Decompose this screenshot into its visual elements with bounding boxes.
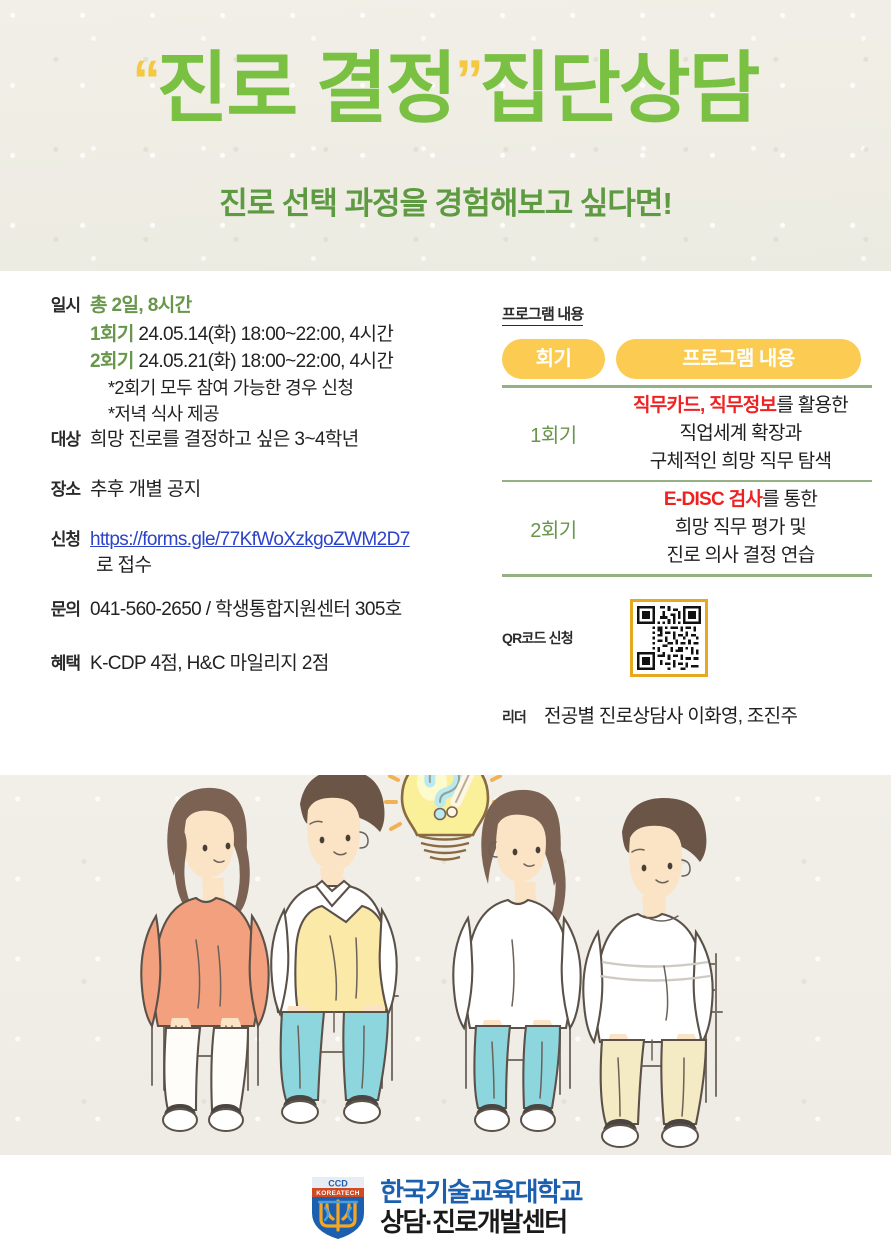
row-2-line-3: 진로 의사 결정 연습 bbox=[609, 542, 872, 570]
note-1: *2회기 모두 참여 가능한 경우 신청 bbox=[38, 375, 488, 401]
svg-text:CCD: CCD bbox=[328, 1178, 348, 1188]
qr-code[interactable] bbox=[630, 599, 708, 677]
person-3 bbox=[453, 790, 580, 1131]
details-column: 일시 총 2일, 8시간 1회기 24.05.14(화) 18:00~22:00… bbox=[38, 293, 488, 679]
detail-row-apply: 신청 https://forms.gle/77KfWoXzkgoZWM2D7 로… bbox=[38, 527, 488, 579]
person-1 bbox=[141, 788, 268, 1131]
benefit-label: 혜택 bbox=[38, 651, 80, 677]
row-1-line-3: 구체적인 희망 직무 탐색 bbox=[609, 448, 872, 476]
program-table-header: 회기 프로그램 내용 bbox=[502, 339, 872, 379]
seated-people-illustration: .ln { fill:none; stroke:#5b5149; stroke-… bbox=[0, 775, 891, 1155]
table-divider-bottom bbox=[502, 574, 872, 577]
target-value: 희망 진로를 결정하고 싶은 3~4학년 bbox=[80, 427, 488, 453]
detail-row-place: 장소 추후 개별 공지 bbox=[38, 477, 488, 503]
place-label: 장소 bbox=[38, 477, 80, 503]
contact-value: 041-560-2650 / 학생통합지원센터 305호 bbox=[80, 597, 488, 623]
row-1-line-1: 직무카드, 직무정보를 활용한 bbox=[609, 392, 872, 420]
table-row: 2회기 E-DISC 검사를 통한 희망 직무 평가 및 진로 의사 결정 연습 bbox=[502, 482, 872, 574]
title-part-1: 진로 결정 bbox=[157, 44, 456, 132]
person-2 bbox=[271, 775, 398, 1123]
detail-row-target: 대상 희망 진로를 결정하고 싶은 3~4학년 bbox=[38, 427, 488, 453]
apply-suffix: 로 접수 bbox=[90, 555, 151, 576]
svg-text:KOREATECH: KOREATECH bbox=[316, 1190, 360, 1197]
row-1-session: 1회기 bbox=[502, 419, 605, 448]
session-2-value: 24.05.21(화) 18:00~22:00, 4시간 bbox=[138, 351, 393, 372]
row-2-line-2: 희망 직무 평가 및 bbox=[609, 514, 872, 542]
body-area: 일시 총 2일, 8시간 1회기 24.05.14(화) 18:00~22:00… bbox=[0, 271, 891, 775]
detail-row-date: 일시 총 2일, 8시간 bbox=[38, 293, 488, 319]
footer: CCD KOREATECH 한국기술교육대학교 상담·진로개발센터 bbox=[0, 1155, 891, 1260]
qr-label: QR코드 신청 bbox=[502, 628, 630, 648]
leader-row: 리더 전공별 진로상담사 이화영, 조진주 bbox=[502, 701, 872, 728]
detail-row-contact: 문의 041-560-2650 / 학생통합지원센터 305호 bbox=[38, 597, 488, 623]
apply-label: 신청 bbox=[38, 527, 80, 553]
apply-value: https://forms.gle/77KfWoXzkgoZWM2D7 로 접수 bbox=[80, 527, 425, 579]
page-title: “진로 결정”집단상담 bbox=[0, 46, 891, 130]
qr-application-area: QR코드 신청 bbox=[502, 599, 872, 677]
person-4 bbox=[583, 798, 722, 1147]
row-2-session: 2회기 bbox=[502, 514, 605, 543]
row-2-highlight: E-DISC 검사 bbox=[664, 489, 762, 510]
page-subtitle: 진로 선택 과정을 경험해보고 싶다면! bbox=[0, 178, 891, 223]
footer-university-name: 한국기술교육대학교 bbox=[380, 1178, 582, 1207]
footer-org-text: 한국기술교육대학교 상담·진로개발센터 bbox=[380, 1178, 582, 1236]
column-header-session: 회기 bbox=[502, 339, 605, 379]
session-1-line: 1회기 24.05.14(화) 18:00~22:00, 4시간 bbox=[38, 321, 488, 348]
illustration-band: .ln { fill:none; stroke:#5b5149; stroke-… bbox=[0, 775, 891, 1155]
column-header-content: 프로그램 내용 bbox=[616, 339, 861, 379]
benefit-value: K-CDP 4점, H&C 마일리지 2점 bbox=[80, 651, 488, 677]
spacer-4 bbox=[38, 625, 488, 651]
row-2-line1-rest: 를 통한 bbox=[762, 489, 817, 510]
row-2-content: E-DISC 검사를 통한 희망 직무 평가 및 진로 의사 결정 연습 bbox=[605, 486, 872, 570]
session-1-tag: 1회기 bbox=[90, 324, 134, 345]
place-value: 추후 개별 공지 bbox=[80, 477, 488, 503]
title-part-2: 집단상담 bbox=[479, 44, 758, 132]
quote-close-mark: ” bbox=[455, 48, 479, 111]
program-section-title: 프로그램 내용 bbox=[502, 303, 583, 326]
footer-center-name: 상담·진로개발센터 bbox=[380, 1208, 582, 1237]
quote-open-mark: “ bbox=[133, 48, 157, 111]
row-1-content: 직무카드, 직무정보를 활용한 직업세계 확장과 구체적인 희망 직무 탐색 bbox=[605, 392, 872, 476]
date-value: 총 2일, 8시간 bbox=[80, 293, 488, 319]
spacer-3 bbox=[38, 581, 488, 597]
session-2-line: 2회기 24.05.21(화) 18:00~22:00, 4시간 bbox=[38, 348, 488, 375]
detail-row-benefit: 혜택 K-CDP 4점, H&C 마일리지 2점 bbox=[38, 651, 488, 677]
row-1-highlight: 직무카드, 직무정보 bbox=[633, 395, 776, 416]
spacer-2 bbox=[38, 505, 488, 527]
apply-url-link[interactable]: https://forms.gle/77KfWoXzkgoZWM2D7 bbox=[90, 529, 410, 550]
koreatech-ccd-logo-icon: CCD KOREATECH bbox=[309, 1175, 367, 1241]
contact-label: 문의 bbox=[38, 597, 80, 623]
leader-value: 전공별 진로상담사 이화영, 조진주 bbox=[536, 701, 797, 728]
spacer-1 bbox=[38, 455, 488, 477]
table-row: 1회기 직무카드, 직무정보를 활용한 직업세계 확장과 구체적인 희망 직무 … bbox=[502, 388, 872, 480]
program-column: 프로그램 내용 회기 프로그램 내용 1회기 직무카드, 직무정보를 활용한 직… bbox=[502, 303, 872, 728]
row-1-line-2: 직업세계 확장과 bbox=[609, 420, 872, 448]
row-1-line1-rest: 를 활용한 bbox=[776, 395, 848, 416]
row-2-line-1: E-DISC 검사를 통한 bbox=[609, 486, 872, 514]
session-2-tag: 2회기 bbox=[90, 351, 134, 372]
header-band: “진로 결정”집단상담 진로 선택 과정을 경험해보고 싶다면! bbox=[0, 0, 891, 271]
qr-code-icon bbox=[637, 606, 701, 670]
target-label: 대상 bbox=[38, 427, 80, 453]
session-1-value: 24.05.14(화) 18:00~22:00, 4시간 bbox=[138, 324, 393, 345]
leader-label: 리더 bbox=[502, 707, 536, 727]
date-label: 일시 bbox=[38, 293, 80, 319]
note-2: *저녁 식사 제공 bbox=[38, 401, 488, 427]
poster-root: “진로 결정”집단상담 진로 선택 과정을 경험해보고 싶다면! 일시 총 2일… bbox=[0, 0, 891, 1260]
